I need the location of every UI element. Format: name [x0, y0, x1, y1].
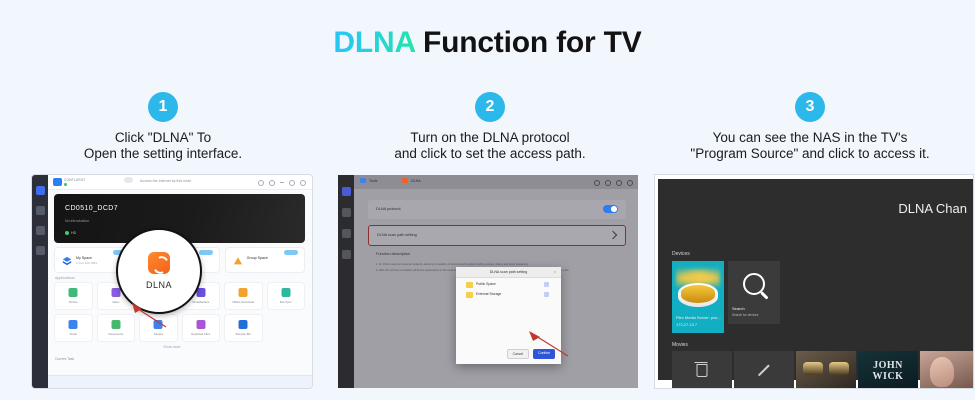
sidebar-icon-settings[interactable] — [342, 250, 351, 259]
app-tile-audio[interactable]: Audio — [54, 314, 93, 342]
checkbox[interactable] — [544, 292, 549, 297]
app-label: Picture — [55, 300, 92, 304]
current-task-label: Current Task — [55, 357, 74, 361]
app-tile-file-sync[interactable]: File Sync — [267, 282, 306, 310]
movies-section-label: Movies — [672, 342, 688, 348]
tab-bar: Tools DLNA — [354, 175, 638, 189]
dialog-title: DLNA scan path setting — [456, 270, 561, 274]
app-tile-recycle-bin[interactable]: Recycle Bin — [224, 314, 263, 342]
folder-icon — [466, 292, 473, 298]
minimize-icon[interactable] — [605, 180, 611, 186]
movie-card-poster-3[interactable] — [920, 351, 973, 388]
nas-taskbar — [48, 375, 312, 388]
trash-icon — [697, 364, 708, 377]
movies-row: JOHN WICK — [672, 351, 973, 388]
device-subtitle: No introduction — [65, 219, 89, 223]
sidebar-icon-apps[interactable] — [36, 226, 45, 235]
dlna-protocol-row[interactable]: DLNA protocol — [368, 200, 626, 219]
step-2-line1: Turn on the DLNA protocol — [340, 130, 640, 146]
app-icon — [239, 288, 248, 297]
tv-home-screen: DLNA Chan Devices Plex Media Server: pos… — [658, 179, 973, 380]
dlna-icon — [402, 178, 408, 183]
dlna-scan-path-row[interactable]: DLNA scan path setting — [368, 225, 626, 246]
app-label: Samba — [140, 332, 177, 336]
sidebar-icon-home[interactable] — [36, 186, 45, 195]
app-label: Audio — [55, 332, 92, 336]
dlna-protocol-toggle[interactable] — [603, 205, 618, 213]
tab-dlna[interactable]: DLNA — [402, 178, 421, 183]
settings-body: DLNA protocol DLNA scan path setting Fun… — [354, 189, 638, 388]
sunglasses-poster-art — [803, 362, 849, 375]
show-more-button[interactable]: Show more — [32, 345, 312, 349]
panel-step-3-screenshot: DLNA Chan Devices Plex Media Server: pos… — [655, 175, 973, 388]
movie-card-trash[interactable] — [672, 351, 732, 388]
device-status-label: HD — [71, 231, 76, 235]
app-tile-duplicate-files[interactable]: Duplicate Files — [182, 314, 221, 342]
dialog-item-external-storage[interactable]: External Storage — [466, 291, 553, 300]
app-icon — [69, 288, 78, 297]
step-1-badge: 1 — [148, 92, 178, 122]
sidebar-icon-clock[interactable] — [342, 229, 351, 238]
device-tile-plex[interactable]: Plex Media Server: pos... 172.27.13.7 — [672, 261, 724, 333]
infographic-page: DLNA Function for TV 1 Click "DLNA" To O… — [0, 0, 975, 400]
device-status-dot-icon — [65, 231, 69, 235]
dlna-protocol-label: DLNA protocol — [376, 207, 400, 211]
sidebar-icon-home[interactable] — [342, 187, 351, 196]
app-icon — [281, 288, 290, 297]
refresh-icon[interactable] — [258, 180, 264, 186]
close-icon[interactable] — [300, 180, 306, 186]
online-status-dot-icon — [64, 183, 67, 186]
space-card-group-space[interactable]: Group Space — [225, 247, 305, 273]
magnifier-label: DLNA — [146, 280, 172, 290]
settings-sidebar — [338, 175, 354, 388]
app-label: File Sync — [268, 300, 305, 304]
device-tile-name: Plex Media Server: pos... — [676, 315, 721, 320]
space-name: Group Space — [247, 256, 268, 260]
app-icon — [196, 320, 205, 329]
checkbox[interactable] — [544, 282, 549, 287]
dialog-close-icon[interactable]: × — [554, 270, 556, 274]
app-icon — [69, 320, 78, 329]
minimize-icon[interactable] — [280, 180, 284, 183]
app-icon — [239, 320, 248, 329]
search-tile[interactable]: Search Search for devices — [728, 261, 780, 324]
movie-card-poster-john-wick[interactable]: JOHN WICK — [858, 351, 918, 388]
folder-icon — [466, 282, 473, 288]
plex-media-server-icon — [678, 283, 718, 307]
face-poster-art — [930, 357, 954, 387]
movie-card-edit[interactable] — [734, 351, 794, 388]
space-sub: 1 free 340.7843 — [76, 261, 97, 265]
devices-section-label: Devices — [672, 251, 690, 257]
device-name: CD0510_DCD7 — [65, 205, 118, 212]
tv-screen-title: DLNA Chan — [898, 201, 967, 216]
pointer-arrow-2 — [524, 330, 570, 358]
nas-sidebar — [32, 175, 48, 388]
step-3-line1: You can see the NAS in the TV's — [650, 130, 970, 146]
page-title-rest: Function for TV — [415, 26, 642, 59]
movie-title: JOHN WICK — [858, 360, 918, 382]
function-description-line-1: 1. An DLNA setup empowered network, allo… — [376, 263, 528, 266]
app-tile-picture[interactable]: Picture — [54, 282, 93, 310]
brand-logo-icon — [53, 178, 62, 186]
panel-step-2-screenshot: Tools DLNA DLNA protocol — [338, 175, 638, 388]
steps-row: 1 Click "DLNA" To Open the setting inter… — [0, 92, 975, 172]
nas-titlebar: CONFLUENT Access the Internet by this no… — [48, 175, 312, 190]
dialog-item-label: Public Space — [476, 282, 496, 286]
chevron-right-icon — [609, 230, 617, 238]
step-3-line2: "Program Source" and click to access it. — [650, 146, 970, 162]
step-2: 2 Turn on the DLNA protocol and click to… — [340, 92, 640, 162]
applications-section-label: Applications — [55, 276, 74, 280]
search-tile-subtitle: Search for devices — [732, 313, 758, 317]
tools-icon — [360, 178, 366, 183]
app-label: Recycle Bin — [225, 332, 262, 336]
app-tile-offline-download[interactable]: Offline Download — [224, 282, 263, 310]
space-name: My Space — [76, 256, 92, 260]
maximize-icon[interactable] — [289, 180, 295, 186]
step-2-badge: 2 — [475, 92, 505, 122]
app-icon — [111, 288, 120, 297]
dialog-item-label: External Storage — [476, 292, 501, 296]
sidebar-icon-files[interactable] — [342, 208, 351, 217]
dlna-app-icon — [148, 252, 170, 274]
app-label: Offline Download — [225, 300, 262, 304]
step-1: 1 Click "DLNA" To Open the setting inter… — [18, 92, 308, 162]
cloud-icon — [284, 250, 298, 255]
tab-tools[interactable]: Tools — [360, 178, 377, 183]
tv-window: DLNA Chan Devices Plex Media Server: pos… — [655, 175, 973, 388]
page-title: DLNA Function for TV — [0, 26, 975, 60]
my-space-icon — [62, 256, 72, 266]
device-tile-ip: 172.27.13.7 — [676, 322, 697, 327]
step-3-badge: 3 — [795, 92, 825, 122]
pencil-icon — [758, 364, 770, 376]
step-1-line2: Open the setting interface. — [18, 146, 308, 162]
cloud-icon — [199, 250, 213, 255]
magnifier-callout-dlna: DLNA — [116, 228, 202, 314]
sidebar-icon-files[interactable] — [36, 206, 45, 215]
gear-icon[interactable] — [269, 180, 275, 186]
tab-dlna-label: DLNA — [411, 179, 421, 183]
movie-card-poster-1[interactable] — [796, 351, 856, 388]
app-icon — [111, 320, 120, 329]
close-icon[interactable] — [627, 180, 633, 186]
pointer-arrow-1 — [128, 303, 168, 329]
tab-tools-label: Tools — [369, 179, 377, 183]
group-space-icon — [233, 256, 243, 266]
sidebar-icon-settings[interactable] — [36, 246, 45, 255]
settings-window: Tools DLNA DLNA protocol — [338, 175, 638, 388]
dialog-item-public-space[interactable]: Public Space — [466, 281, 553, 290]
function-description-label: Function description — [376, 252, 410, 256]
maximize-icon[interactable] — [616, 180, 622, 186]
nas-desktop-window: CONFLUENT Access the Internet by this no… — [32, 175, 312, 388]
panel-step-1-screenshot: CONFLUENT Access the Internet by this no… — [32, 175, 312, 388]
brand-name: CONFLUENT — [64, 178, 85, 182]
dlna-scan-path-label: DLNA scan path setting — [377, 233, 417, 237]
gear-icon[interactable] — [594, 180, 600, 186]
network-toggle[interactable] — [124, 177, 133, 183]
window-controls[interactable] — [258, 180, 306, 186]
app-label: Duplicate Files — [183, 332, 220, 336]
step-2-line2: and click to set the access path. — [340, 146, 640, 162]
search-tile-title: Search — [732, 306, 745, 311]
app-label: Documents — [98, 332, 135, 336]
window-controls[interactable] — [594, 180, 633, 186]
page-title-highlight: DLNA — [333, 26, 414, 59]
network-status-label: Access the Internet by this node — [140, 179, 191, 183]
step-1-line1: Click "DLNA" To — [18, 130, 308, 146]
step-3: 3 You can see the NAS in the TV's "Progr… — [650, 92, 970, 162]
search-icon — [743, 273, 765, 295]
